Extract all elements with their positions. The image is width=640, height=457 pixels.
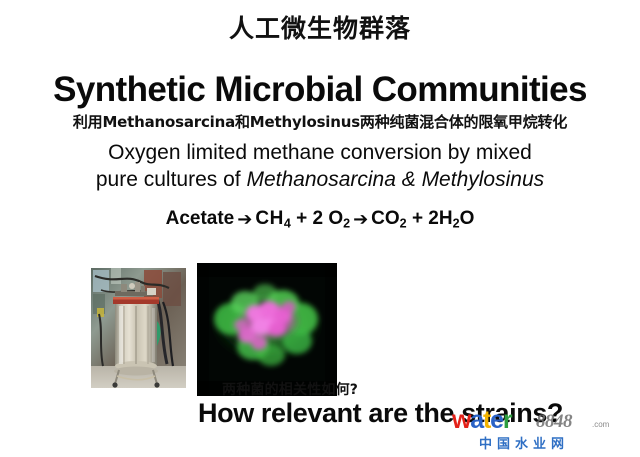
- subtitle-english: Oxygen limited methane conversion by mix…: [0, 140, 640, 194]
- slide-canvas: 人工微生物群落 Synthetic Microbial Communities …: [0, 0, 640, 457]
- page-title-chinese: 人工微生物群落: [0, 16, 640, 42]
- watermark-chinese: 中国水业网: [479, 433, 569, 452]
- page-title-english: Synthetic Microbial Communities: [0, 72, 640, 107]
- species-names-italic: Methanosarcina & Methylosinus: [246, 168, 544, 191]
- subtitle-english-line2: pure cultures of Methanosarcina & Methyl…: [0, 167, 640, 194]
- question-chinese: 两种菌的相关性如何?: [222, 379, 358, 399]
- equation-water-subscript: 2: [453, 217, 460, 231]
- watermark-tld: .com: [592, 420, 609, 429]
- equation-plus-oxygen: + 2: [296, 208, 328, 229]
- equation-co2-subscript: 2: [400, 217, 407, 231]
- equation-reactant: Acetate: [166, 208, 235, 229]
- subtitle-chinese: 利用Methanosarcina和Methylosinus两种纯菌混合体的限氧甲…: [0, 115, 640, 131]
- equation-co2-base: CO: [371, 208, 400, 229]
- arrow-right-icon-2: ➔: [350, 209, 371, 230]
- question-english: How relevant are the strains?: [198, 398, 563, 429]
- fish-micrograph-graphic: [197, 263, 337, 396]
- fish-micrograph-photo: [197, 263, 337, 396]
- equation-oxygen-base: O: [328, 208, 343, 229]
- equation-water-tail: O: [460, 208, 475, 229]
- arrow-right-icon-1: ➔: [234, 209, 255, 230]
- bioreactor-photo: [91, 268, 186, 388]
- reaction-equation: Acetate➔CH4 + 2 O2➔CO2 + 2H2O: [0, 208, 640, 231]
- bioreactor-photo-graphic: [91, 268, 186, 388]
- equation-methane-subscript: 4: [284, 217, 291, 231]
- equation-methane-base: CH: [255, 208, 283, 229]
- equation-plus-water: + 2H: [412, 208, 453, 229]
- subtitle-english-line2-prefix: pure cultures of: [96, 168, 247, 191]
- subtitle-english-line1: Oxygen limited methane conversion by mix…: [108, 141, 532, 164]
